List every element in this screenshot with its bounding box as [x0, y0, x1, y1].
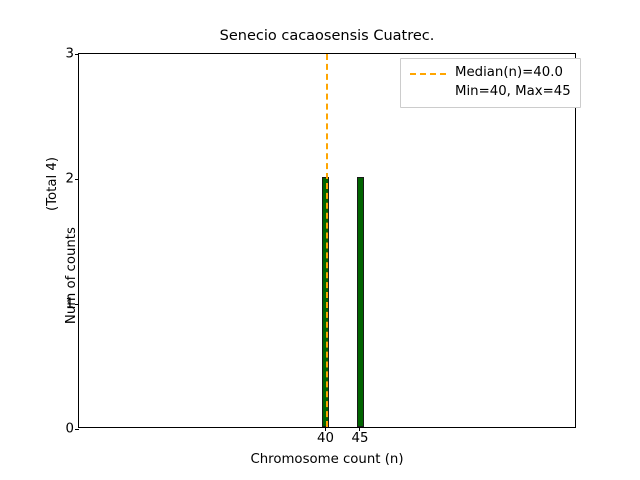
y-axis-label-line2: (Total 4) [45, 157, 61, 211]
median-line [326, 54, 328, 427]
plot-area: 3 2 1 0 40 45 Median(n)=4 [78, 53, 576, 428]
legend-label-minmax: Min=40, Max=45 [455, 84, 571, 100]
x-axis-label: Chromosome count (n) [78, 452, 576, 467]
x-tick-label: 45 [352, 432, 369, 445]
y-tick-mark [75, 429, 79, 430]
chart-legend: Median(n)=40.0 Min=40, Max=45 [400, 58, 581, 108]
legend-dashed-line-icon [410, 65, 446, 82]
legend-label-median: Median(n)=40.0 [455, 65, 571, 81]
y-tick-label: 0 [66, 422, 74, 435]
y-tick-label: 1 [66, 297, 74, 310]
y-axis-label: Num of counts (Total 4) [42, 53, 82, 428]
y-tick-label: 3 [66, 47, 74, 60]
chart-title: Senecio cacaosensis Cuatrec. [78, 28, 576, 45]
y-tick-mark [75, 54, 79, 55]
legend-text: Median(n)=40.0 Min=40, Max=45 [455, 65, 571, 100]
chart-figure: Senecio cacaosensis Cuatrec. 3 2 1 0 40 [0, 0, 640, 480]
y-tick-label: 2 [66, 172, 74, 185]
x-tick-label: 40 [317, 432, 334, 445]
y-tick-mark [75, 304, 79, 305]
y-tick-mark [75, 179, 79, 180]
bar-45 [357, 177, 364, 427]
